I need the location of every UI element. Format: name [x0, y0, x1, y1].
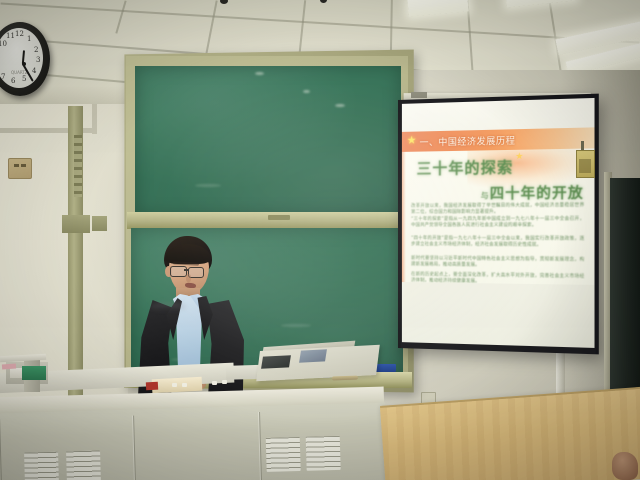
- jacket-highlight: [150, 302, 186, 312]
- clock-numeral: 7: [1, 73, 5, 81]
- blackboard-panel-upper[interactable]: [135, 66, 401, 216]
- clock-numeral: 6: [11, 77, 15, 85]
- clock-numeral: 10: [0, 40, 7, 48]
- clock-numeral: 11: [6, 32, 15, 40]
- ceiling-light-panel: [407, 0, 468, 17]
- star-icon: ★: [407, 135, 417, 146]
- slide-paragraph: “四十年的开放”是指一九七八年十一届三中全会以来，我国实行改革开放政策，逐步建立…: [411, 236, 584, 250]
- classroom-photo: 12 1 2 3 4 5 6 7 8 9 10 11 QUARTZ: [0, 0, 640, 480]
- cabinet-vent-louver: [24, 452, 59, 480]
- cabinet-vent-louver: [66, 451, 101, 480]
- cabinet-vent-louver: [306, 436, 341, 471]
- wall-trim: [92, 104, 97, 134]
- console-recess: [261, 355, 291, 369]
- clock-numeral: 2: [34, 46, 38, 54]
- pillar-bracket: [62, 215, 90, 233]
- clock-numeral: 4: [32, 67, 36, 75]
- eyeglasses-bridge: [184, 269, 189, 271]
- slide-banner-text: 一、中国经济发展历程: [420, 133, 516, 148]
- foreground-hand: [612, 452, 638, 480]
- clock-numeral: 3: [36, 56, 40, 64]
- hinge-strip: [74, 135, 82, 197]
- slide-heading-connector: 与: [481, 191, 490, 200]
- slide-paragraph: 在新的历史起点上，要全面深化改革，扩大高水平对外开放，完善社会主义市场经济体制，…: [411, 272, 584, 285]
- slide-paragraph: 改革开放以来，我国经济发展取得了举世瞩目的伟大成就，中国经济总量稳居世界第二位，…: [411, 203, 584, 216]
- ceiling-speaker: [220, 0, 228, 4]
- power-outlet[interactable]: [8, 158, 32, 179]
- slide-paragraph: “三十年的探索”是指从一九四九年新中国成立到一九七八年十一届三中全会召开，中国共…: [411, 217, 584, 230]
- rail-clip: [268, 215, 290, 220]
- eyeglasses-icon: [170, 266, 187, 277]
- cabinet-vent-louver: [266, 437, 301, 472]
- presentation-slide: ★ 一、中国经济发展历程 ★ 三十年的探索 与四十年的开放 改革开放以来，我国经…: [402, 127, 595, 285]
- slide-heading-primary: 三十年的探索: [417, 156, 514, 179]
- notes-marker: [146, 382, 158, 391]
- chalk-box[interactable]: [10, 368, 22, 378]
- slide-heading-secondary: 与四十年的开放: [481, 182, 584, 203]
- clock-numeral: 1: [27, 35, 31, 43]
- pillar-bracket: [92, 216, 107, 231]
- star-icon: ★: [515, 152, 523, 162]
- cabinet-door[interactable]: [133, 412, 261, 480]
- slide-paragraph: 新时代要坚持以习近平新时代中国特色社会主义思想为指导，贯彻新发展理念，构建新发展…: [411, 256, 584, 270]
- chalk-box[interactable]: [22, 366, 34, 380]
- wall-clock: 12 1 2 3 4 5 6 7 8 9 10 11 QUARTZ: [0, 22, 54, 100]
- console-monitor[interactable]: [299, 349, 327, 362]
- clock-numeral: 12: [15, 30, 24, 38]
- podium-button[interactable]: [172, 383, 177, 387]
- chalk-piece[interactable]: [2, 364, 16, 370]
- ceiling-light-panel: [505, 0, 576, 8]
- podium-button[interactable]: [182, 383, 187, 387]
- slide-heading-secondary-text: 四十年的开放: [490, 185, 584, 202]
- ceiling-grid-line: [1, 2, 640, 43]
- projection-screen[interactable]: ★ 一、中国经济发展历程 ★ 三十年的探索 与四十年的开放 改革开放以来，我国经…: [398, 94, 599, 355]
- presenter-nose: [186, 274, 191, 282]
- slide-left-edge: [402, 132, 406, 282]
- ceiling-grid-line: [204, 0, 217, 59]
- clock-numeral: 5: [22, 75, 26, 83]
- sign-inner: [579, 159, 591, 173]
- blackboard-divider-rail: [127, 212, 407, 229]
- screen-mount-bracket: [411, 92, 427, 98]
- chalk-box[interactable]: [34, 366, 46, 380]
- lecture-notes: [152, 377, 203, 394]
- projection-surface: ★ 一、中国经济发展历程 ★ 三十年的探索 与四十年的开放 改革开放以来，我国经…: [402, 98, 595, 349]
- ceiling-speaker: [320, 0, 327, 3]
- doorway[interactable]: [610, 178, 640, 406]
- clock-center-pin: [22, 62, 26, 66]
- podium-button[interactable]: [222, 380, 227, 384]
- fire-extinguisher-box-icon: [576, 150, 595, 178]
- podium-cabinet: [0, 403, 387, 480]
- podium-button[interactable]: [212, 381, 217, 385]
- ceiling-grid-line: [115, 0, 126, 33]
